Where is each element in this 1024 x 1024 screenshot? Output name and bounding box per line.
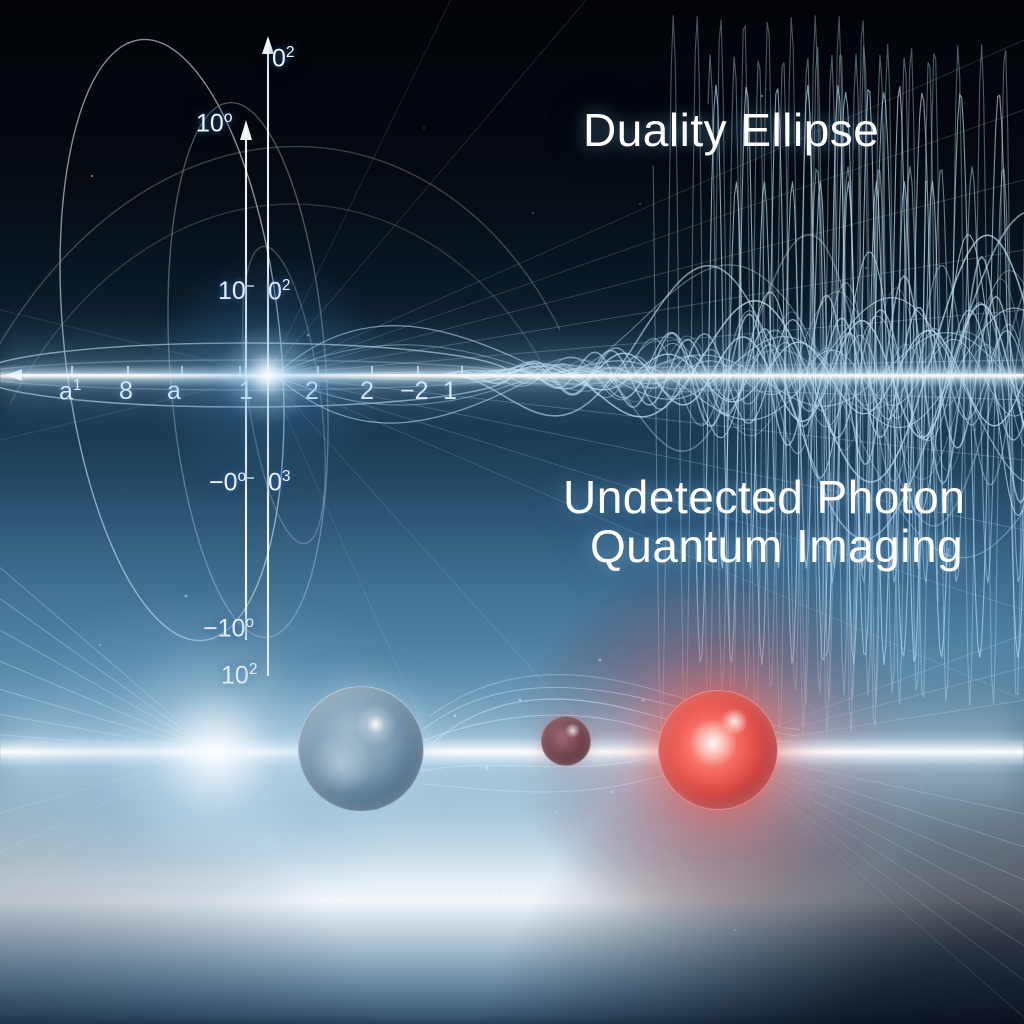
scene-root: 02 10o 10 02 −0o 03 −10o 102 a1 8 a 1 2 …	[0, 0, 1024, 1024]
small-sphere	[541, 716, 591, 766]
glass-sphere	[298, 686, 424, 812]
page-title: Duality Ellipse	[583, 103, 879, 157]
subtitle-line-2: Quantum Imaging	[590, 519, 963, 573]
red-sphere	[658, 690, 778, 810]
subtitle-line-1: Undetected Photon	[563, 470, 965, 524]
